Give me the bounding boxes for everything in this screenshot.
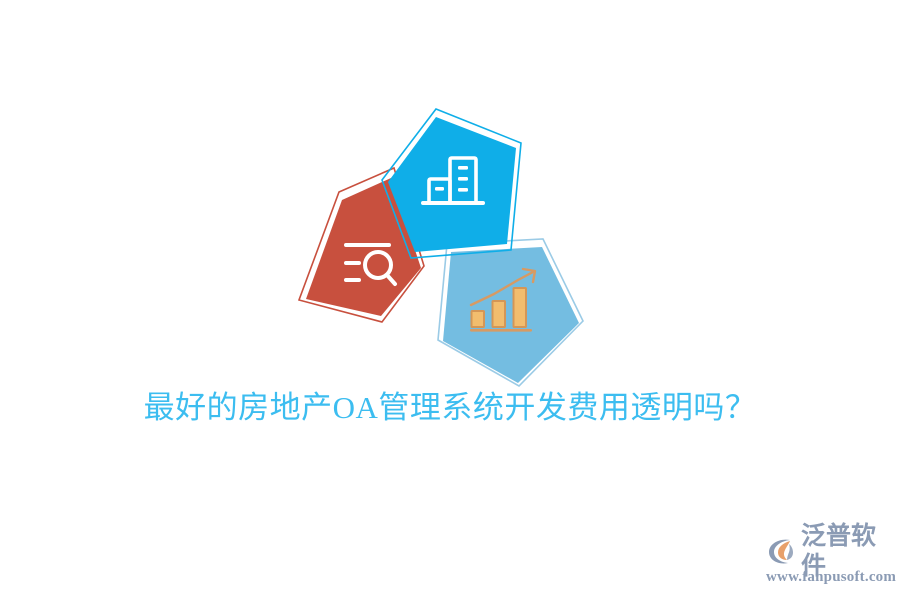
page-canvas: 最好的房地产OA管理系统开发费用透明吗？ 泛普软件 www.fanpusoft.… [0,0,900,600]
watermark-url: www.fanpusoft.com [766,569,892,586]
pentagon-cluster-graphic [290,100,610,390]
pentagon-building [382,109,521,258]
pentagon-growth-chart [438,239,583,386]
watermark-brand-row: 泛普软件 [766,534,892,568]
pentagon-growth-chart-body [443,247,579,383]
fanpu-c-mark-icon [766,536,798,566]
pentagon-building-body [388,117,516,252]
watermark-logo: 泛普软件 www.fanpusoft.com [766,534,892,588]
page-title: 最好的房地产OA管理系统开发费用透明吗？ [0,388,900,428]
